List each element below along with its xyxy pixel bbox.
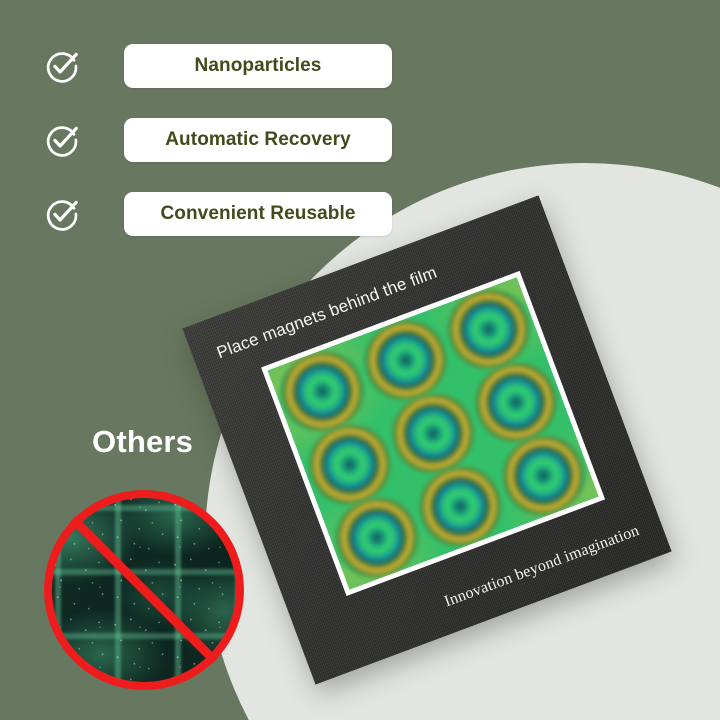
feature-row: Automatic Recovery — [44, 118, 392, 162]
feature-label: Automatic Recovery — [165, 129, 351, 151]
others-title: Others — [92, 424, 193, 460]
product-feature-image: Nanoparticles Automatic Recovery Conveni… — [0, 0, 720, 720]
feature-pill[interactable]: Automatic Recovery — [124, 118, 392, 162]
feature-pill[interactable]: Convenient Reusable — [124, 192, 392, 236]
feature-row: Nanoparticles — [44, 44, 392, 88]
others-film-speckle — [48, 494, 240, 686]
others-sample-image — [48, 494, 240, 686]
feature-pill[interactable]: Nanoparticles — [124, 44, 392, 88]
feature-label: Convenient Reusable — [160, 203, 355, 225]
check-circle-icon — [44, 196, 80, 232]
check-circle-icon — [44, 122, 80, 158]
feature-row: Convenient Reusable — [44, 192, 392, 236]
feature-label: Nanoparticles — [195, 55, 322, 77]
check-circle-icon — [44, 48, 80, 84]
